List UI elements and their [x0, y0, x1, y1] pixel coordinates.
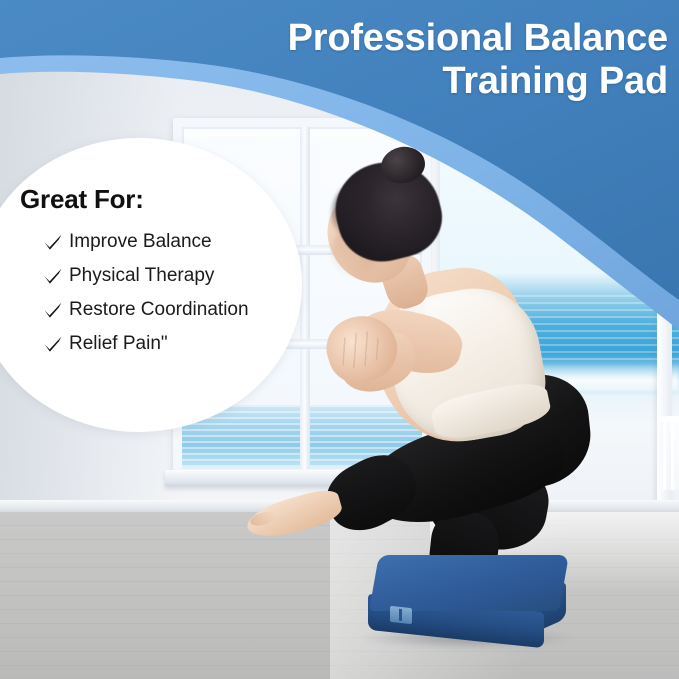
check-icon	[42, 299, 64, 321]
list-item: Relief Pain"	[42, 333, 308, 355]
pad-brand-logo	[390, 606, 412, 624]
pad-top-surface	[369, 555, 569, 611]
benefits-callout-content: Great For: Improve Balance Physical Ther…	[18, 184, 308, 367]
check-icon	[42, 231, 64, 253]
balcony-railing	[663, 420, 679, 490]
benefit-label: Improve Balance	[69, 231, 212, 253]
benefit-label: Restore Coordination	[69, 299, 249, 321]
benefits-list: Improve Balance Physical Therapy Restore…	[18, 231, 308, 355]
balance-pad-product	[368, 555, 568, 651]
check-icon	[42, 265, 64, 287]
hair-wisp	[332, 184, 372, 236]
check-icon	[42, 333, 64, 355]
list-item: Restore Coordination	[42, 299, 308, 321]
list-item: Improve Balance	[42, 231, 308, 253]
benefit-label: Relief Pain"	[69, 333, 168, 355]
list-item: Physical Therapy	[42, 265, 308, 287]
benefit-label: Physical Therapy	[69, 265, 214, 287]
callout-heading: Great For:	[20, 184, 308, 215]
woman-figure	[280, 140, 600, 580]
product-image: Professional Balance Training Pad Great …	[0, 0, 679, 679]
